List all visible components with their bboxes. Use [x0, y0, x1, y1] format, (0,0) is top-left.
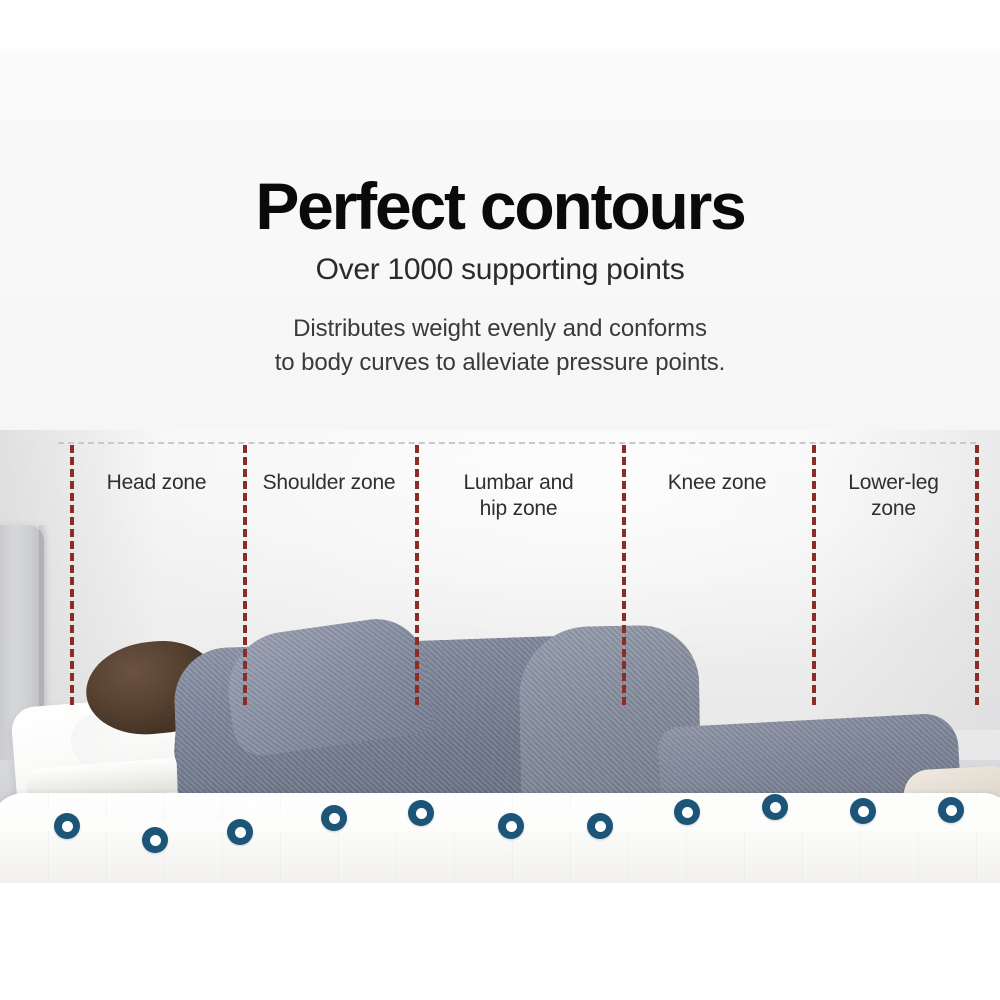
promo-banner: Perfect contours Over 1000 supporting po…	[0, 0, 1000, 1000]
zone-divider-0	[70, 445, 74, 705]
zone-label-line: Shoulder zone	[253, 470, 405, 496]
support-point-marker	[762, 794, 788, 820]
support-point-core	[946, 805, 957, 816]
zone-label-line: Head zone	[80, 470, 233, 496]
support-point-core	[595, 821, 606, 832]
support-point-marker	[408, 800, 434, 826]
zone-label-lower-leg: Lower-legzone	[822, 470, 965, 523]
support-point-marker	[938, 797, 964, 823]
support-point-marker	[321, 805, 347, 831]
support-point-core	[62, 821, 73, 832]
support-point-core	[858, 806, 869, 817]
zone-label-knee: Knee zone	[632, 470, 802, 496]
support-point-marker	[587, 813, 613, 839]
support-point-marker	[850, 798, 876, 824]
zone-label-line: Lower-leg	[822, 470, 965, 496]
support-point-core	[682, 807, 693, 818]
support-point-core	[770, 802, 781, 813]
support-point-marker	[674, 799, 700, 825]
zone-divider-4	[812, 445, 816, 705]
zone-label-head: Head zone	[80, 470, 233, 496]
support-point-core	[235, 827, 246, 838]
zone-divider-2	[415, 445, 419, 705]
zone-divider-3	[622, 445, 626, 705]
zone-label-line: Knee zone	[632, 470, 802, 496]
support-point-core	[506, 821, 517, 832]
zone-divider-1	[243, 445, 247, 705]
support-point-core	[329, 813, 340, 824]
support-point-marker	[54, 813, 80, 839]
support-point-core	[416, 808, 427, 819]
zone-label-line: zone	[822, 496, 965, 522]
zone-top-rule	[58, 442, 976, 444]
zone-label-line: Lumbar and	[425, 470, 612, 496]
zone-label-lumbar-hip: Lumbar andhip zone	[425, 470, 612, 523]
zone-divider-5	[975, 445, 979, 705]
support-point-marker	[498, 813, 524, 839]
support-point-marker	[227, 819, 253, 845]
zone-label-shoulder: Shoulder zone	[253, 470, 405, 496]
support-point-core	[150, 835, 161, 846]
zone-label-line: hip zone	[425, 496, 612, 522]
support-point-marker	[142, 827, 168, 853]
